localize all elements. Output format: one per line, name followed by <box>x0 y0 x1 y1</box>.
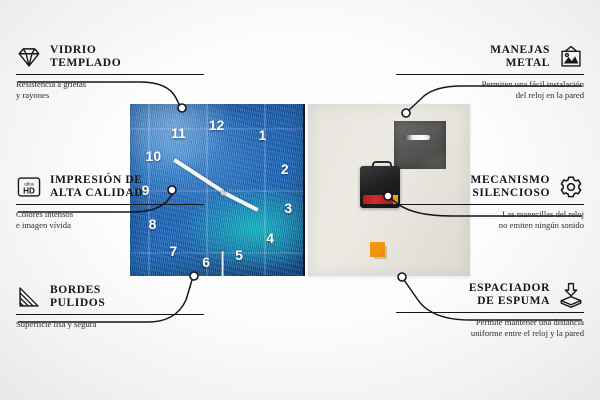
hanger-slot <box>404 135 430 140</box>
framed-picture-icon <box>558 44 584 70</box>
feature-vidrio-templado[interactable]: VIDRIO TEMPLADO Resistencia a grietas y … <box>16 44 204 101</box>
feature-title: IMPRESIÓN DE ALTA CALIDAD <box>50 174 143 200</box>
feature-header: MECANISMO SILENCIOSO <box>396 174 584 200</box>
feature-impresion-alta-calidad[interactable]: ultra HD IMPRESIÓN DE ALTA CALIDAD Color… <box>16 174 204 231</box>
feature-bordes-pulidos[interactable]: BORDES PULIDOS Superficie lisa y segura <box>16 284 204 330</box>
clock-number-4: 4 <box>266 230 274 246</box>
divider <box>396 312 584 313</box>
feature-title: VIDRIO TEMPLADO <box>50 44 121 70</box>
feature-header: ESPACIADOR DE ESPUMA <box>396 282 584 308</box>
gear-icon <box>558 174 584 200</box>
arrow-press-stack-icon <box>558 282 584 308</box>
divider <box>16 204 204 205</box>
foam-spacer <box>370 242 385 257</box>
feature-header: BORDES PULIDOS <box>16 284 204 310</box>
clock-hour-hand <box>223 191 259 212</box>
divider <box>16 314 204 315</box>
infographic-canvas: 12 1 2 3 4 5 6 7 8 9 10 11 <box>0 0 600 400</box>
divider <box>16 74 204 75</box>
clock-number-5: 5 <box>235 247 243 263</box>
svg-text:HD: HD <box>23 187 35 196</box>
clock-number-3: 3 <box>284 200 292 216</box>
clock-number-2: 2 <box>281 161 289 177</box>
clock-number-6: 6 <box>202 254 210 270</box>
clock-number-12: 12 <box>209 117 225 133</box>
clock-mechanism-box <box>360 166 400 208</box>
clock-number-11: 11 <box>171 125 186 141</box>
polished-edge-icon <box>16 284 42 310</box>
feature-header: ultra HD IMPRESIÓN DE ALTA CALIDAD <box>16 174 204 200</box>
feature-title: MECANISMO SILENCIOSO <box>470 174 550 200</box>
feature-header: MANEJAS METAL <box>396 44 584 70</box>
ultra-hd-icon: ultra HD <box>16 174 42 200</box>
clock-number-10: 10 <box>146 148 162 164</box>
clock-number-8: 8 <box>149 216 157 232</box>
clock-center-cap <box>220 190 225 195</box>
divider <box>396 74 584 75</box>
feature-title: ESPACIADOR DE ESPUMA <box>469 282 550 308</box>
battery <box>363 195 393 204</box>
divider <box>396 204 584 205</box>
diamond-icon <box>16 44 42 70</box>
metal-hanger-plate <box>394 121 446 169</box>
clock-number-1: 1 <box>258 127 266 143</box>
feature-title: MANEJAS METAL <box>490 44 550 70</box>
clock-number-9: 9 <box>142 182 150 198</box>
feature-header: VIDRIO TEMPLADO <box>16 44 204 70</box>
feature-mecanismo-silencioso[interactable]: MECANISMO SILENCIOSO Las manecillas del … <box>396 174 584 231</box>
clock-number-7: 7 <box>169 243 177 259</box>
feature-espaciador-espuma[interactable]: ESPACIADOR DE ESPUMA Permite mantener un… <box>396 282 584 339</box>
mechanism-hook <box>372 161 392 170</box>
feature-title: BORDES PULIDOS <box>50 284 105 310</box>
feature-manejas-metal[interactable]: MANEJAS METAL Permiten una fácil instala… <box>396 44 584 101</box>
clock-second-hand <box>222 250 224 276</box>
